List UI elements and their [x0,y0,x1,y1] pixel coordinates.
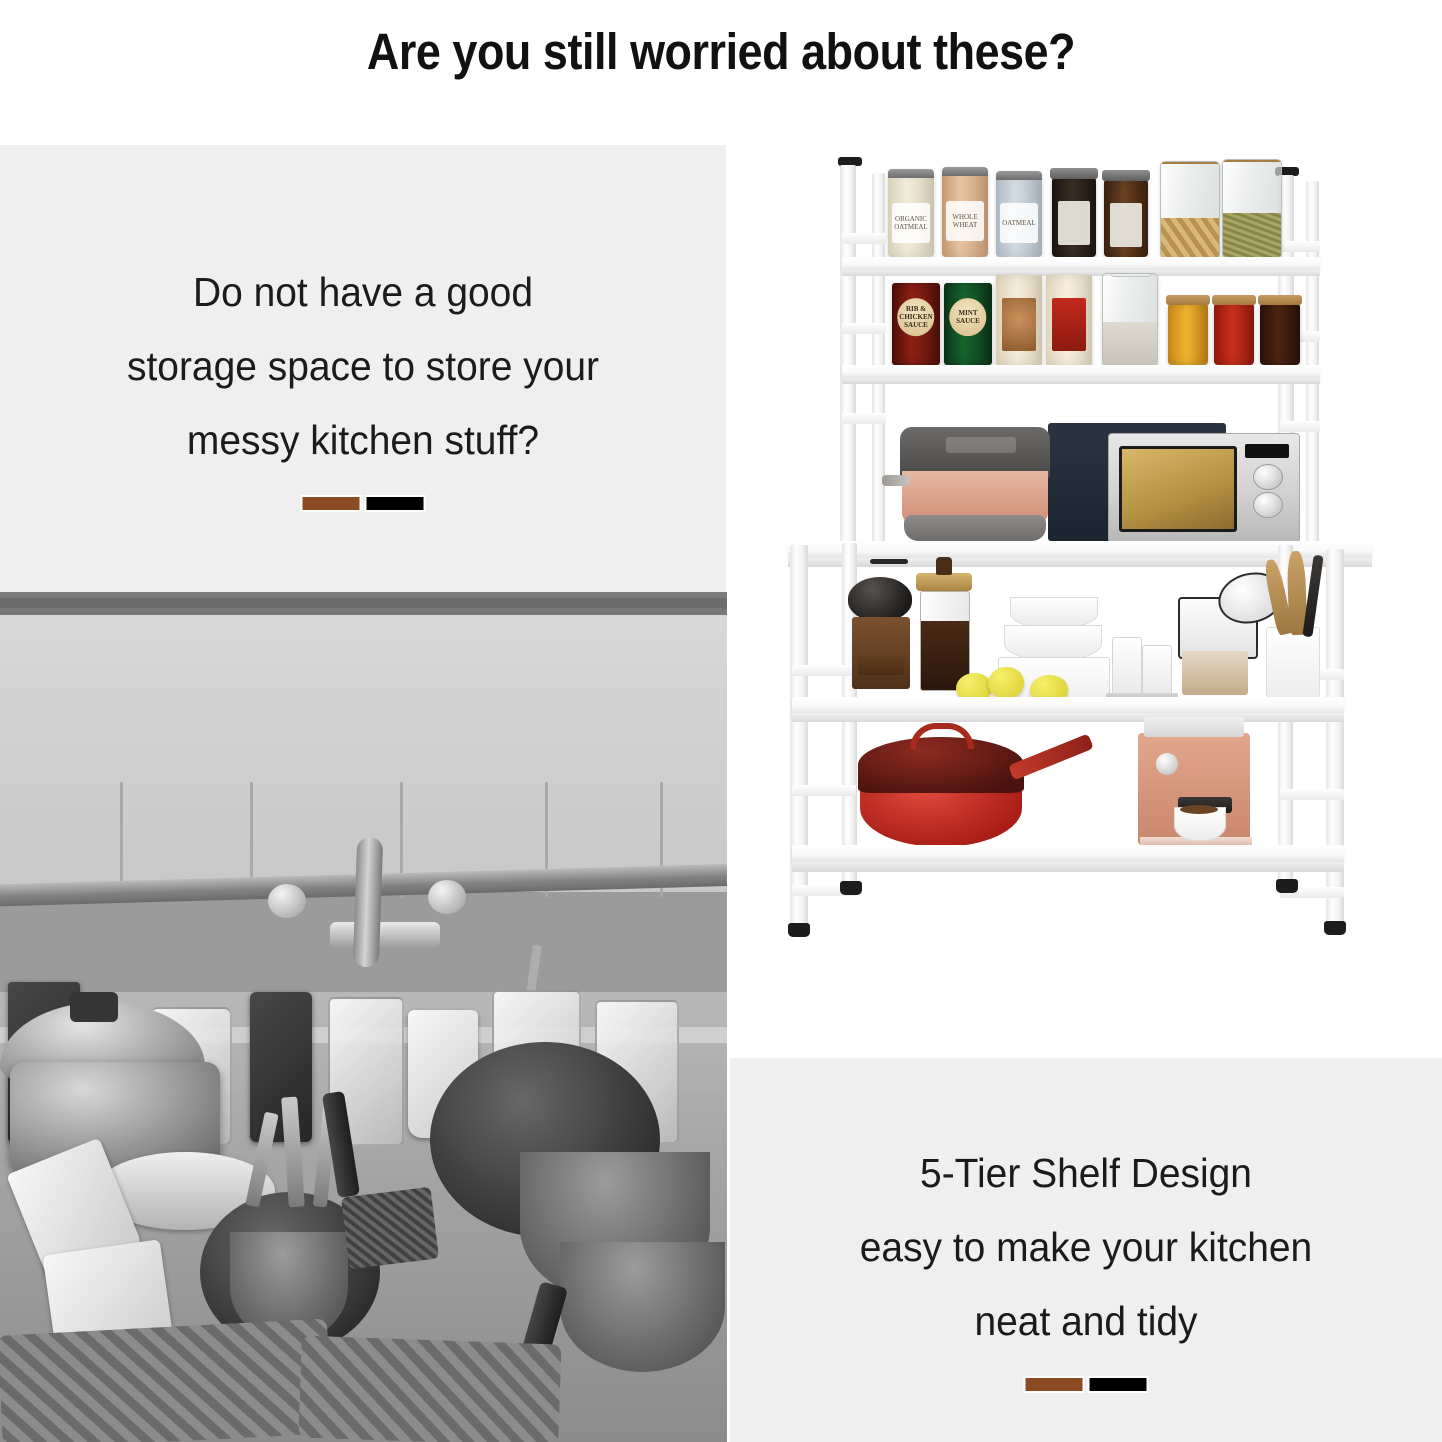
solution-copy: 5-Tier Shelf Design easy to make your ki… [748,1136,1424,1358]
shelf-board-4 [792,697,1344,713]
jar-wooden-lid [1166,295,1210,305]
espresso-machine-top [1144,717,1244,737]
food-box-1 [996,275,1042,365]
spice-jar-paprika [1214,303,1254,365]
canister-whole-wheat: WHOLE WHEAT [942,167,988,257]
coffee-grinder-crank [870,559,908,564]
divider-segment-black [1088,1376,1149,1393]
faucet-knob [268,884,306,918]
canister-lid [888,169,934,178]
solution-line-1: 5-Tier Shelf Design [748,1136,1424,1210]
hutch-brace [1280,241,1320,252]
clamp-jar [1102,273,1158,367]
jar-wooden-lid [1258,295,1302,305]
shelf-board-1 [842,257,1320,270]
scouring-sponge [341,1187,439,1269]
jar-lid [1050,168,1098,179]
food-box-2 [1046,275,1092,365]
solution-divider [1024,1376,1149,1393]
espresso-coffee-surface [1180,805,1218,814]
messy-kitchen-photo [0,592,727,1442]
jar-contents-pasta [1161,218,1219,258]
microwave-knob-timer [1253,464,1283,490]
hutch-brace [842,323,886,334]
tile-seam [0,598,727,608]
shelf-board-5-bottom [792,845,1344,862]
sauce-can-rib-chicken: RIB & CHICKEN SAUCE [892,283,940,365]
spice-jar-turmeric [1168,303,1208,365]
jar-wooden-lid [1160,161,1220,164]
sauce-can-mint: MINT SAUCE [944,283,992,365]
jar-contents-sugar [1103,322,1157,366]
lid-knob [70,992,118,1022]
box-label [1052,298,1085,350]
rice-cooker-control-panel [946,437,1016,453]
canister-label: WHOLE WHEAT [946,201,985,241]
pan-lid-handle [910,723,974,749]
coffee-grinder-dome [848,577,912,621]
solution-panel: 5-Tier Shelf Design easy to make your ki… [730,1058,1442,1442]
rice-cooker-handle [882,475,910,486]
product-shelf-photo: ORGANIC OATMEAL WHOLE WHEAT OATMEAL [730,145,1442,1045]
dish-cloth [298,1335,561,1442]
small-pot [1182,651,1248,695]
tile-seam [120,782,123,897]
rack-foot-right-front [1324,921,1346,935]
rice-cooker-base [904,515,1046,541]
canister-label: ORGANIC OATMEAL [892,203,931,243]
clamp-lid [1111,273,1151,277]
canister-lid [996,171,1042,180]
problem-panel: Do not have a good storage space to stor… [0,145,726,592]
shelf-board-4-edge [792,713,1344,722]
jar-label [1110,203,1142,247]
faucet-spout [353,837,384,968]
page-title: Are you still worried about these? [87,22,1356,81]
lemon-2 [988,667,1024,699]
box-label [1002,298,1035,350]
french-press-lid [916,573,972,591]
soap-dispenser-2 [1142,645,1172,697]
problem-divider [301,495,426,512]
hutch-brace [842,233,886,244]
hutch-brace [1280,421,1320,432]
problem-line-3: messy kitchen stuff? [18,403,708,477]
bowl-stack-bottom [1004,625,1102,661]
solution-line-2: easy to make your kitchen [748,1210,1424,1284]
faucet-knob [428,880,466,914]
jar-contents-grains [1223,213,1281,258]
glass-jar-grains [1222,159,1282,259]
jar-lid [1102,170,1150,181]
poster-canvas: Are you still worried about these? Do no… [0,0,1442,1442]
problem-copy: Do not have a good storage space to stor… [18,255,708,477]
rack-foot-right-back [1276,879,1298,893]
problem-line-1: Do not have a good [18,255,708,329]
baker-rack: ORGANIC OATMEAL WHOLE WHEAT OATMEAL [730,145,1442,1045]
shelf-board-5-edge [792,862,1344,872]
tile-seam [0,608,727,615]
canister-oatmeal-2: OATMEAL [996,171,1042,257]
glass-jar-pasta [1160,161,1220,259]
problem-line-2: storage space to store your [18,329,708,403]
dark-jar-2 [1104,179,1148,257]
jar-wooden-lid [1212,295,1256,305]
dirty-bowl [560,1242,725,1372]
microwave-display [1245,444,1289,458]
sauce-label: MINT SAUCE [949,299,986,337]
divider-segment-brown [1024,1376,1085,1393]
canister-lid [942,167,988,176]
soap-dispenser-1 [1112,637,1142,697]
shelf-board-2 [842,365,1320,378]
rack-brace [792,785,856,796]
french-press-knob [936,557,952,575]
jar-label [1058,201,1090,245]
canister-label: OATMEAL [1000,203,1039,243]
divider-segment-black [365,495,426,512]
microwave-oven [1108,433,1300,543]
divider-segment-brown [301,495,362,512]
microwave-knob-power [1253,492,1283,518]
solution-line-3: neat and tidy [748,1284,1424,1358]
rack-brace [792,665,856,676]
microwave-door-window [1119,446,1237,532]
dirty-mug [250,992,312,1142]
sauce-label: RIB & CHICKEN SAUCE [897,299,934,337]
rack-foot-left-front [788,923,810,937]
rack-foot-left-back [840,881,862,895]
dark-jar-1 [1052,177,1096,257]
espresso-portafilter-knob [1156,753,1178,775]
canister-oatmeal-1: ORGANIC OATMEAL [888,169,934,257]
jar-wooden-lid [1222,159,1282,162]
shelf-board-2-edge [842,378,1320,384]
rack-brace [1280,789,1344,800]
hutch-brace [842,413,886,424]
utensil-crock [1266,627,1320,699]
faucet-body [330,922,440,948]
coffee-grinder-drawer [858,649,904,675]
spice-jar-cloves [1260,303,1300,365]
dish-cloth [0,1318,333,1442]
